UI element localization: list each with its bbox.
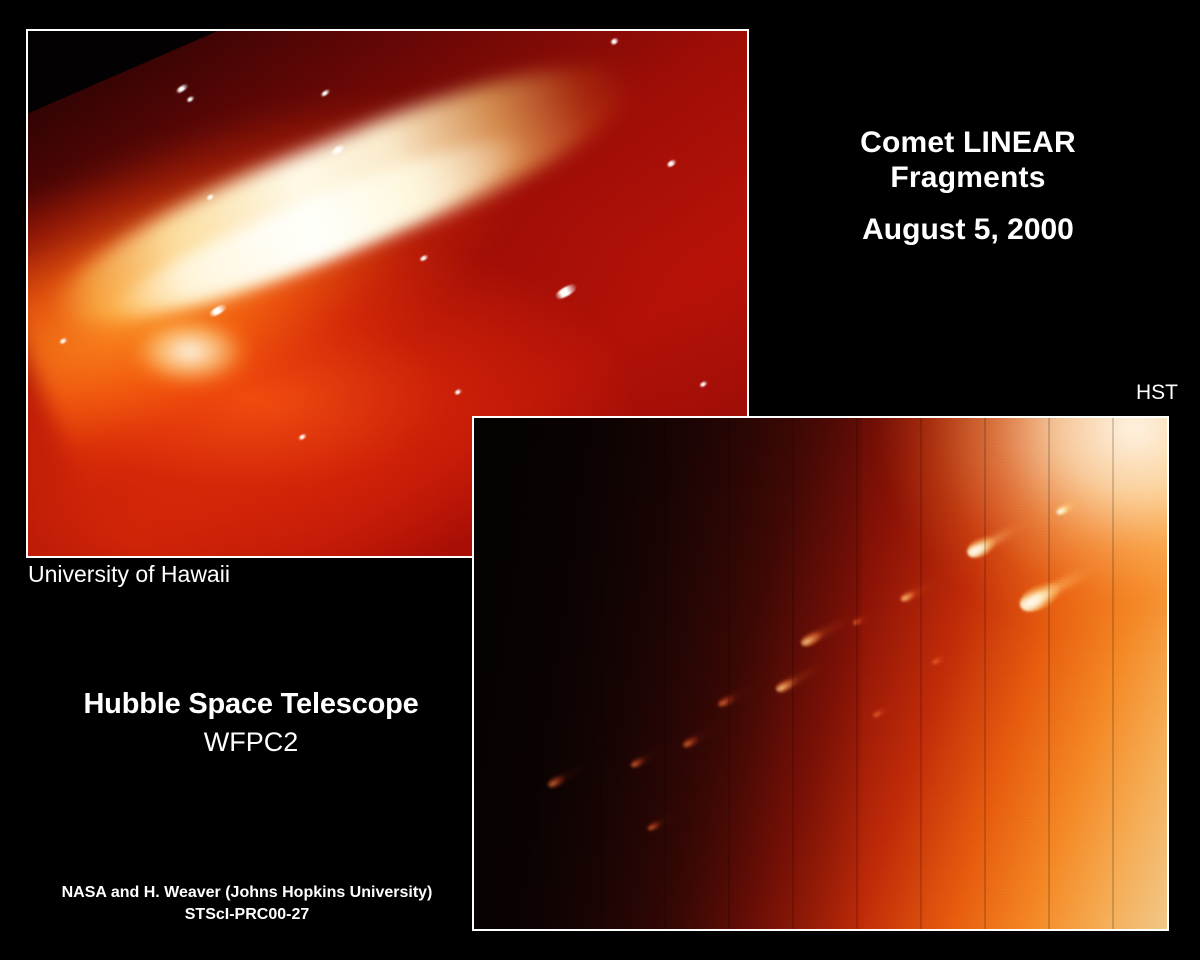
credit-line-authors: NASA and H. Weaver (Johns Hopkins Univer… xyxy=(12,884,482,903)
telescope-name: Hubble Space Telescope xyxy=(16,688,486,722)
image-canvas: Comet LINEAR Fragments August 5, 2000 HS… xyxy=(0,0,1200,960)
credit-line-release-id: STScI-PRC00-27 xyxy=(12,906,482,925)
title-line-1: Comet LINEAR xyxy=(790,126,1146,161)
hubble-wfpc2-image-panel xyxy=(472,416,1169,931)
title-date: August 5, 2000 xyxy=(790,213,1146,248)
telescope-instrument: WFPC2 xyxy=(16,727,486,758)
title-block: Comet LINEAR Fragments August 5, 2000 xyxy=(790,126,1146,247)
credit-block: NASA and H. Weaver (Johns Hopkins Univer… xyxy=(12,884,482,924)
university-of-hawaii-caption: University of Hawaii xyxy=(28,561,230,588)
hst-label: HST xyxy=(1136,381,1178,405)
telescope-block: Hubble Space Telescope WFPC2 xyxy=(16,688,486,758)
uh-comet-nucleus-glow xyxy=(129,315,251,389)
title-line-2: Fragments xyxy=(790,161,1146,196)
